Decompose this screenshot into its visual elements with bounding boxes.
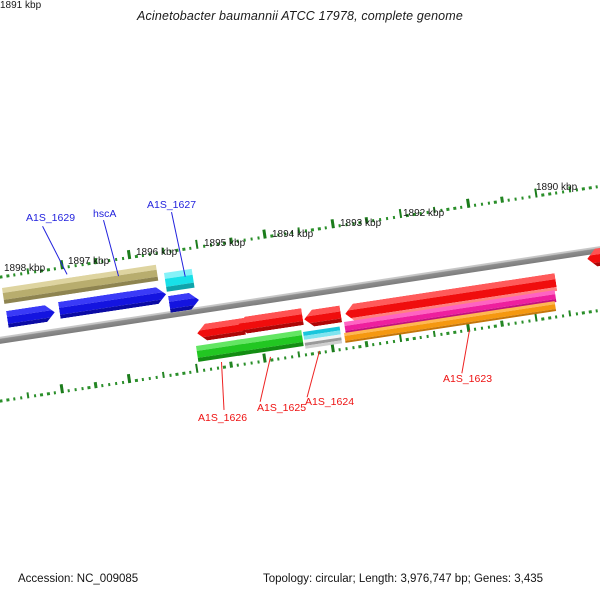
- ruler-tick-minor: [487, 325, 490, 329]
- ruler-tick-minor: [0, 275, 2, 279]
- ruler-label-1892: 1892 kbp: [403, 208, 444, 219]
- ruler-tick-minor: [236, 363, 239, 367]
- ruler-tick-minor: [67, 389, 70, 393]
- ruler-tick-major: [60, 384, 64, 393]
- ruler-tick-minor: [541, 193, 544, 197]
- ruler-tick-minor: [474, 327, 477, 331]
- gene-label-A1S_1624[interactable]: A1S_1624: [305, 396, 354, 408]
- ruler-label-1895: 1895 kbp: [204, 238, 245, 249]
- A1S_1627-cds-box[interactable]: [164, 269, 195, 292]
- ruler-tick-minor: [460, 329, 463, 333]
- ruler-tick-minor: [440, 332, 443, 336]
- gene-label-A1S_1627[interactable]: A1S_1627: [147, 199, 196, 211]
- ruler-tick-minor: [250, 237, 253, 241]
- ruler-tick-minor: [189, 370, 192, 374]
- ruler-tick-minor: [508, 322, 511, 326]
- ruler-tick-minor: [379, 342, 382, 346]
- ruler-tick-minor: [135, 378, 138, 382]
- ruler-tick-minor: [176, 372, 179, 376]
- ruler-tick-minor: [386, 217, 389, 221]
- ruler-tick-minor: [589, 310, 592, 314]
- ruler-tick-minor: [596, 309, 599, 313]
- ruler-tick-minor: [216, 366, 219, 370]
- ruler-tick-minor: [115, 382, 118, 386]
- ruler-tick-minor: [284, 356, 287, 360]
- ruler-tick-minor: [74, 388, 77, 392]
- genome-viewer: Acinetobacter baumannii ATCC 17978, comp…: [0, 0, 600, 600]
- ruler-label-1893: 1893 kbp: [340, 218, 381, 229]
- ruler-tick-minor: [270, 358, 273, 362]
- ruler-tick-minor: [325, 350, 328, 354]
- footer-accession: Accession: NC_009085: [18, 573, 138, 585]
- ruler-tick-minor: [480, 326, 483, 330]
- ruler-tick-minor: [508, 198, 511, 202]
- ruler-tick-major: [398, 209, 402, 218]
- ruler-tick-minor: [521, 196, 524, 200]
- ruler-tick-minor: [426, 334, 429, 338]
- A1S_1624-gene-arrow[interactable]: [303, 305, 342, 327]
- gene-label-hscA[interactable]: hscA: [93, 208, 116, 220]
- ruler-tick-minor: [182, 371, 185, 375]
- ruler-tick-minor: [54, 391, 57, 395]
- ruler-tick-minor: [521, 320, 524, 324]
- ruler-tick-minor: [291, 355, 294, 359]
- ruler-tick-minor: [589, 186, 592, 190]
- ruler-tick-minor: [297, 352, 300, 358]
- ruler-tick-minor: [372, 343, 375, 347]
- ruler-tick-minor: [81, 387, 84, 391]
- ruler-tick-minor: [250, 361, 253, 365]
- ruler-tick-minor: [528, 195, 531, 199]
- ruler-tick-minor: [311, 352, 314, 356]
- ruler-label-1891: 1891 kbp: [0, 0, 41, 11]
- ruler-tick-minor: [94, 382, 97, 388]
- ruler-label-1897: 1897 kbp: [68, 256, 109, 267]
- ruler-tick-minor: [148, 376, 151, 380]
- ruler-tick-minor: [87, 386, 90, 390]
- ruler-tick-major: [331, 219, 335, 228]
- ruler-tick-minor: [500, 197, 503, 203]
- ruler-tick-minor: [40, 393, 43, 397]
- ruler-tick-minor: [500, 321, 503, 327]
- ruler-tick-minor: [352, 346, 355, 350]
- ruler-tick-minor: [365, 341, 368, 347]
- ruler-tick-minor: [494, 200, 497, 204]
- ruler-tick-minor: [223, 365, 226, 369]
- ruler-tick-minor: [433, 331, 436, 337]
- ruler-tick-minor: [453, 206, 456, 210]
- A1S_1626-gene-arrow[interactable]: [196, 318, 246, 342]
- ruler-tick-minor: [0, 399, 2, 403]
- ruler-tick-minor: [26, 393, 29, 399]
- ruler-tick-minor: [304, 353, 307, 357]
- ruler-tick-major: [263, 229, 267, 238]
- ruler-tick-minor: [419, 335, 422, 339]
- ruler-tick-minor: [453, 330, 456, 334]
- ruler-tick-minor: [392, 216, 395, 220]
- ruler-tick-minor: [162, 372, 165, 378]
- ruler-tick-minor: [6, 398, 9, 402]
- ruler-tick-minor: [474, 203, 477, 207]
- ruler-tick-minor: [54, 267, 57, 271]
- ruler-tick-minor: [47, 392, 50, 396]
- ruler-tick-minor: [6, 274, 9, 278]
- ruler-tick-minor: [487, 201, 490, 205]
- ruler-tick-minor: [480, 202, 483, 206]
- ruler-tick-minor: [568, 311, 571, 317]
- ruler-tick-minor: [33, 394, 36, 398]
- ruler-tick-minor: [548, 316, 551, 320]
- ruler-tick-minor: [386, 341, 389, 345]
- ruler-tick-minor: [596, 185, 599, 189]
- ruler-tick-minor: [47, 268, 50, 272]
- ruler-tick-minor: [257, 236, 260, 240]
- ruler-tick-minor: [494, 324, 497, 328]
- gene-label-A1S_1623[interactable]: A1S_1623: [443, 373, 492, 385]
- ruler-tick-minor: [582, 311, 585, 315]
- gene-label-A1S_1626[interactable]: A1S_1626: [198, 412, 247, 424]
- ruler-tick-minor: [514, 197, 517, 201]
- ruler-tick-minor: [229, 362, 232, 368]
- ruler-tick-minor: [243, 362, 246, 366]
- gene-label-A1S_1625[interactable]: A1S_1625: [257, 402, 306, 414]
- ruler-tick-minor: [555, 315, 558, 319]
- ruler-tick-minor: [121, 256, 124, 260]
- ruler-tick-minor: [447, 207, 450, 211]
- ruler-tick-minor: [460, 205, 463, 209]
- ruler-tick-minor: [142, 377, 145, 381]
- ruler-tick-minor: [582, 187, 585, 191]
- ruler-tick-minor: [575, 312, 578, 316]
- footer-topology: Topology: circular; Length: 3,976,747 bp…: [263, 573, 543, 585]
- ruler-tick-major: [466, 199, 470, 208]
- ruler-tick-minor: [318, 227, 321, 231]
- ruler-label-1890: 1890 kbp: [536, 182, 577, 193]
- ruler-tick-minor: [203, 368, 206, 372]
- ruler-tick-minor: [514, 321, 517, 325]
- ruler-tick-minor: [121, 380, 124, 384]
- ruler-tick-minor: [189, 246, 192, 250]
- ruler-tick-minor: [20, 396, 23, 400]
- ruler-tick-minor: [562, 314, 565, 318]
- ruler-tick-minor: [392, 340, 395, 344]
- ruler-tick-minor: [257, 360, 260, 364]
- ruler-tick-minor: [338, 348, 341, 352]
- ruler-label-1898: 1898 kbp: [4, 263, 45, 274]
- ruler-tick-minor: [359, 345, 362, 349]
- ruler-tick-minor: [447, 331, 450, 335]
- gene-label-A1S_1629[interactable]: A1S_1629: [26, 212, 75, 224]
- ruler-tick-minor: [413, 336, 416, 340]
- ruler-tick-minor: [182, 247, 185, 251]
- ruler-label-1894: 1894 kbp: [272, 229, 313, 240]
- ruler-tick-major: [127, 374, 131, 383]
- ruler-tick-minor: [155, 375, 158, 379]
- ruler-tick-minor: [169, 373, 172, 377]
- ruler-tick-minor: [108, 383, 111, 387]
- ruler-tick-minor: [406, 337, 409, 341]
- ruler-tick-major: [127, 250, 131, 259]
- ruler-tick-minor: [541, 317, 544, 321]
- ruler-tick-major: [263, 353, 267, 362]
- ruler-tick-minor: [345, 347, 348, 351]
- ruler-tick-minor: [13, 397, 16, 401]
- ruler-tick-minor: [277, 357, 280, 361]
- ruler-label-1896: 1896 kbp: [136, 247, 177, 258]
- A1S_1629-gene-arrow[interactable]: [6, 304, 56, 328]
- ruler-tick-minor: [209, 367, 212, 371]
- ruler-tick-minor: [528, 319, 531, 323]
- ruler-tick-minor: [325, 226, 328, 230]
- ruler-tick-minor: [101, 384, 104, 388]
- ruler-tick-major: [195, 364, 199, 373]
- ruler-tick-major: [195, 240, 199, 249]
- genome-map-canvas[interactable]: [0, 0, 600, 600]
